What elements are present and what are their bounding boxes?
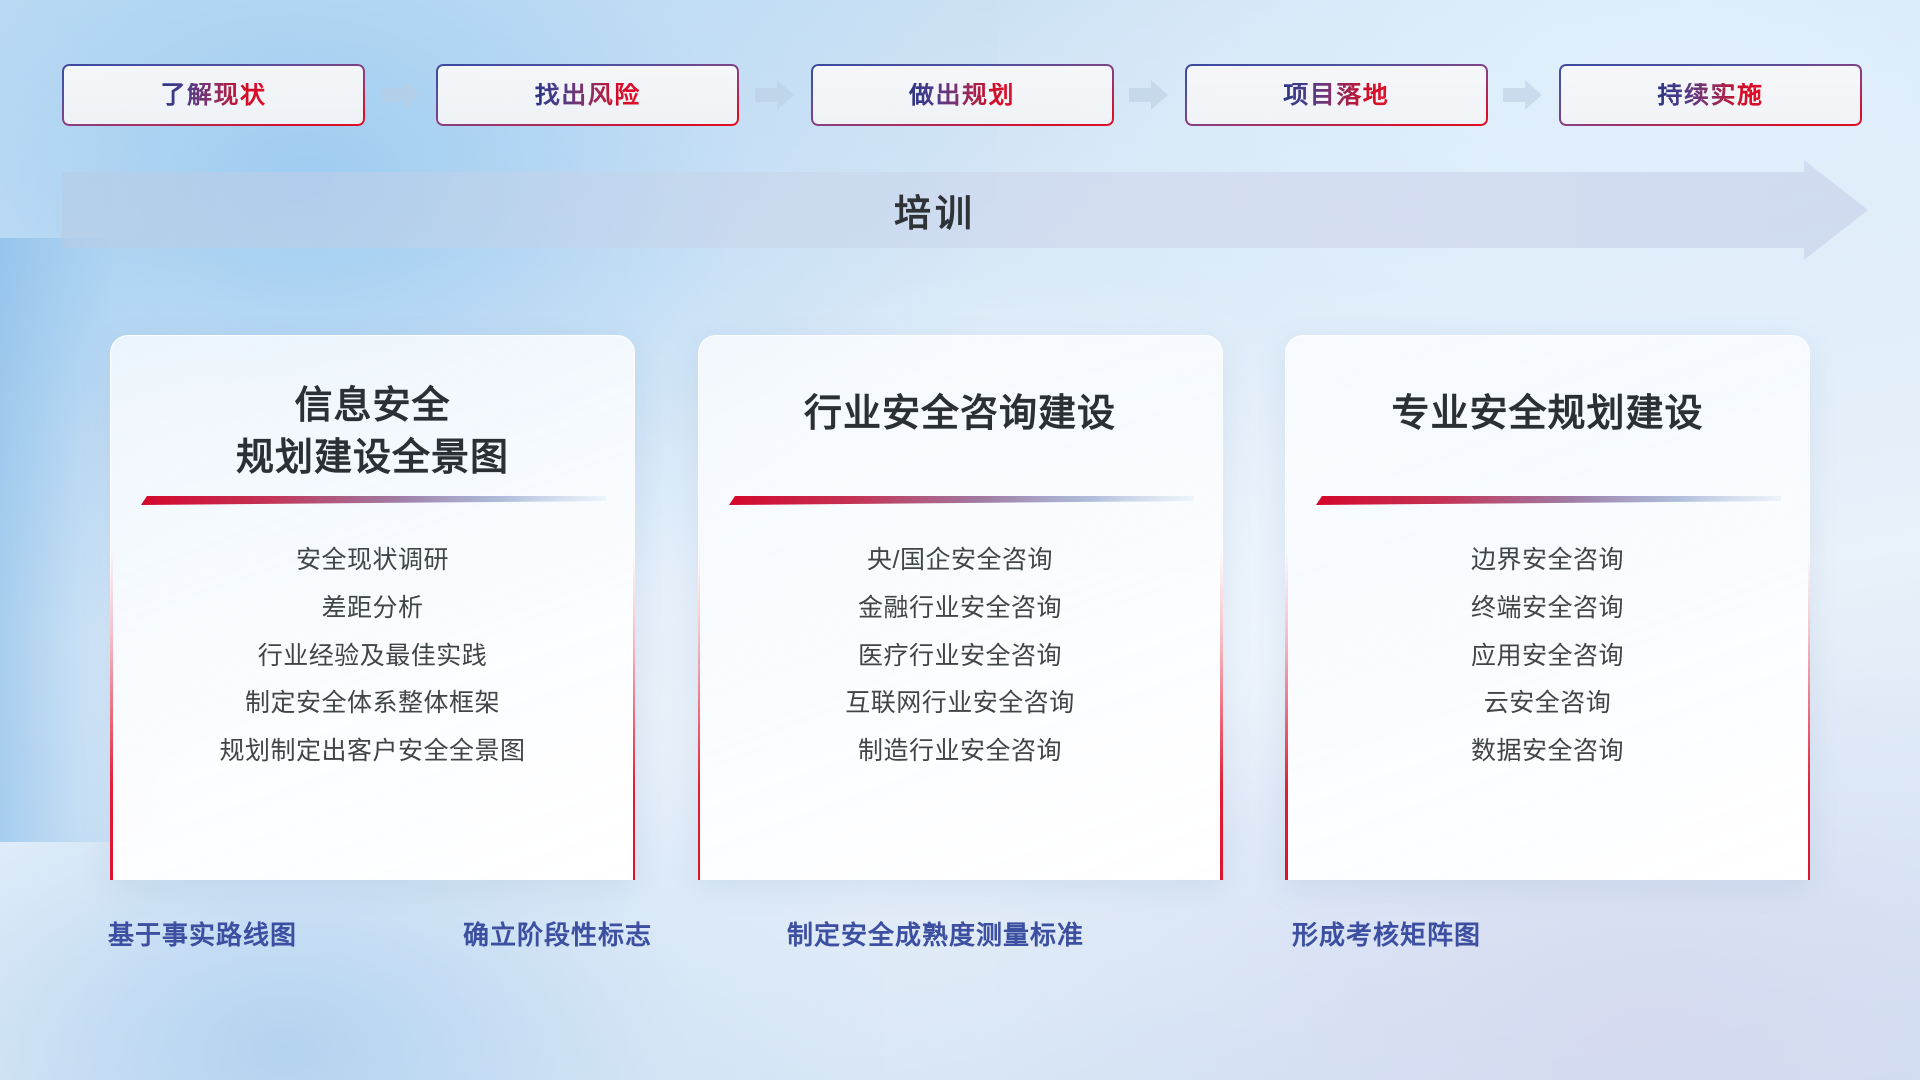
list-item: 安全现状调研 [296, 541, 449, 580]
banner-label: 培训 [62, 160, 1868, 260]
card-divider [1314, 496, 1781, 507]
list-item: 医疗行业安全咨询 [858, 637, 1062, 676]
step-box-4[interactable]: 项目落地 [1185, 64, 1488, 126]
list-item: 行业经验及最佳实践 [258, 637, 488, 676]
list-item: 数据安全咨询 [1471, 732, 1624, 771]
step-box-3[interactable]: 做出规划 [811, 64, 1114, 126]
footer-label-3: 制定安全成熟度测量标准 [787, 915, 1084, 952]
step-label-1: 了解现状 [160, 83, 266, 108]
card-title: 专业安全规划建设 [1391, 388, 1703, 440]
list-item: 差距分析 [321, 589, 423, 628]
training-banner: 培训 [62, 160, 1868, 260]
step-arrow-icon-4 [1503, 78, 1543, 112]
card-divider [139, 496, 606, 507]
card-professional-security-planning[interactable]: 专业安全规划建设 边界安全咨询 终端安全咨询 应用安全咨询 云安全 [1285, 335, 1810, 880]
list-item: 云安全咨询 [1484, 684, 1612, 723]
footer-label-4: 形成考核矩阵图 [1292, 915, 1481, 952]
step-label-4: 项目落地 [1283, 83, 1389, 108]
list-item: 制造行业安全咨询 [858, 732, 1062, 771]
card-information-security[interactable]: 信息安全 规划建设全景图 安全现状调研 差距分析 行业经验及最佳实践 [110, 335, 635, 880]
step-label-3: 做出规划 [909, 83, 1015, 108]
card-title: 行业安全咨询建设 [804, 388, 1116, 440]
card-item-list: 央/国企安全咨询 金融行业安全咨询 医疗行业安全咨询 互联网行业安全咨询 制造行… [699, 541, 1222, 771]
process-steps: 了解现状 找出风险 做出规划 项目落地 持续实施 [62, 64, 1862, 126]
cards-row: 信息安全 规划建设全景图 安全现状调研 差距分析 行业经验及最佳实践 [110, 335, 1810, 880]
list-item: 金融行业安全咨询 [858, 589, 1062, 628]
step-box-1[interactable]: 了解现状 [62, 64, 365, 126]
list-item: 应用安全咨询 [1471, 637, 1624, 676]
step-arrow-icon-2 [755, 78, 795, 112]
step-arrow-icon-1 [381, 78, 421, 112]
step-box-2[interactable]: 找出风险 [436, 64, 739, 126]
card-item-list: 边界安全咨询 终端安全咨询 应用安全咨询 云安全咨询 数据安全咨询 [1286, 541, 1809, 771]
list-item: 互联网行业安全咨询 [845, 684, 1075, 723]
card-title: 信息安全 规划建设全景图 [236, 380, 509, 485]
footer-label-1: 基于事实路线图 [108, 915, 297, 952]
step-label-2: 找出风险 [535, 83, 641, 108]
list-item: 终端安全咨询 [1471, 589, 1624, 628]
card-industry-security-consulting[interactable]: 行业安全咨询建设 央/国企安全咨询 金融行业安全咨询 医疗行业安全咨询 [698, 335, 1223, 880]
footer-labels: 基于事实路线图 确立阶段性标志 制定安全成熟度测量标准 形成考核矩阵图 [0, 915, 1920, 965]
list-item: 边界安全咨询 [1471, 541, 1624, 580]
card-divider [727, 496, 1194, 507]
footer-label-2: 确立阶段性标志 [463, 915, 652, 952]
step-arrow-icon-3 [1129, 78, 1169, 112]
step-label-5: 持续实施 [1657, 83, 1763, 108]
step-box-5[interactable]: 持续实施 [1559, 64, 1862, 126]
list-item: 制定安全体系整体框架 [245, 684, 500, 723]
list-item: 央/国企安全咨询 [867, 541, 1053, 580]
list-item: 规划制定出客户安全全景图 [219, 732, 525, 771]
card-item-list: 安全现状调研 差距分析 行业经验及最佳实践 制定安全体系整体框架 规划制定出客户… [111, 541, 634, 771]
